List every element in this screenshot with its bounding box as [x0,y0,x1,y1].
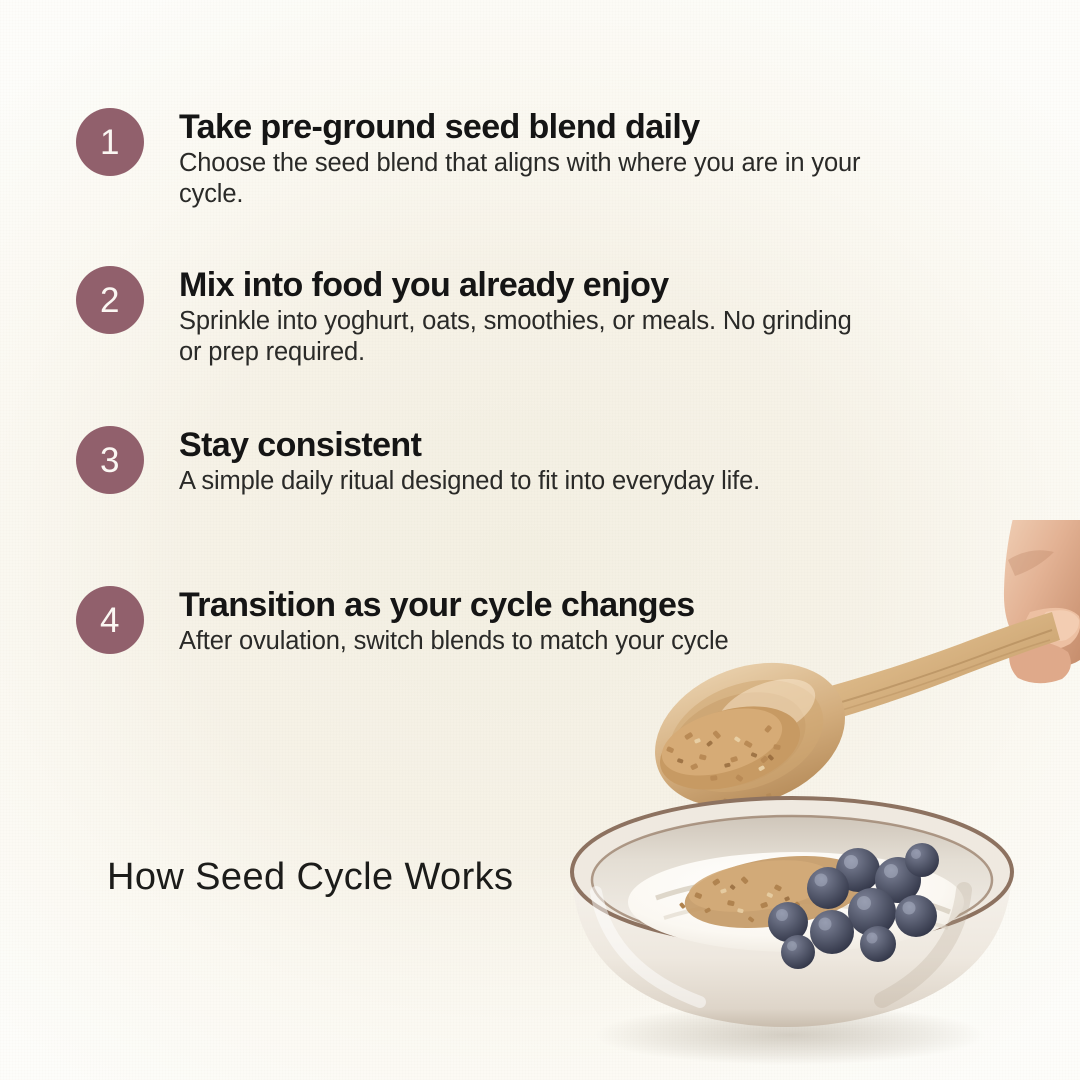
step-description-3: A simple daily ritual designed to fit in… [179,466,760,497]
seeds-in-bowl [679,846,872,939]
step-number-badge-2: 2 [76,266,144,334]
step-number-badge-1: 1 [76,108,144,176]
hand [1004,520,1080,683]
bowl-shadow [595,1005,985,1065]
step-title-2: Mix into food you already enjoy [179,268,879,303]
step-item-4: 4 Transition as your cycle changes After… [76,586,729,657]
poster-caption: How Seed Cycle Works [107,856,513,899]
step-description-2: Sprinkle into yoghurt, oats, smoothies, … [179,306,879,368]
step-description-1: Choose the seed blend that aligns with w… [179,148,879,210]
step-title-3: Stay consistent [179,428,760,463]
step-body-3: Stay consistent A simple daily ritual de… [179,426,760,497]
spoon-bowl [635,638,866,833]
blueberries [768,843,939,969]
falling-seeds [693,793,829,883]
ground-seed-blend-in-spoon [650,692,809,805]
step-item-2: 2 Mix into food you already enjoy Sprink… [76,266,879,369]
step-body-4: Transition as your cycle changes After o… [179,586,729,657]
step-item-3: 3 Stay consistent A simple daily ritual … [76,426,760,497]
step-description-4: After ovulation, switch blends to match … [179,626,729,657]
step-item-1: 1 Take pre-ground seed blend daily Choos… [76,108,879,211]
poster-canvas: 1 Take pre-ground seed blend daily Choos… [0,0,1080,1080]
step-body-2: Mix into food you already enjoy Sprinkle… [179,266,879,369]
step-title-4: Transition as your cycle changes [179,588,729,623]
step-number-badge-4: 4 [76,586,144,654]
yoghurt [628,852,964,952]
step-number-badge-3: 3 [76,426,144,494]
step-body-1: Take pre-ground seed blend daily Choose … [179,108,879,211]
ceramic-bowl [572,798,1012,1027]
step-title-1: Take pre-ground seed blend daily [179,110,879,145]
